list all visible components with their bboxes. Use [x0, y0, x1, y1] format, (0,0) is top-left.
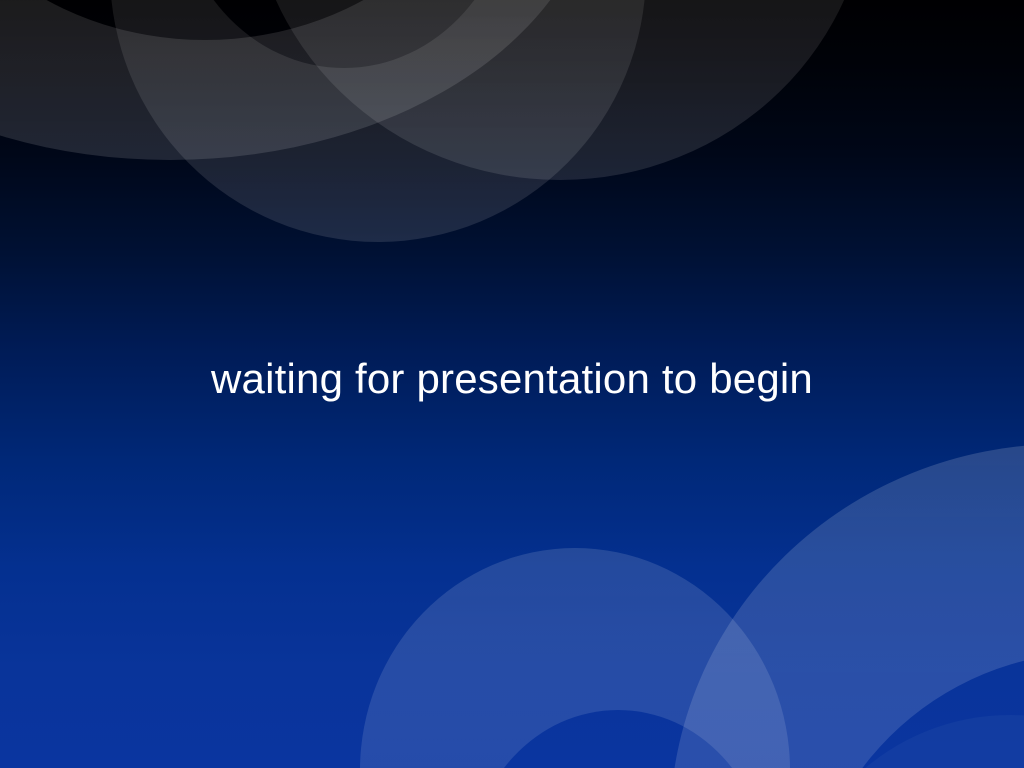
presentation-slide: waiting for presentation to begin — [0, 0, 1024, 768]
slide-title-block: waiting for presentation to begin — [0, 0, 1024, 768]
slide-title: waiting for presentation to begin — [211, 356, 813, 402]
